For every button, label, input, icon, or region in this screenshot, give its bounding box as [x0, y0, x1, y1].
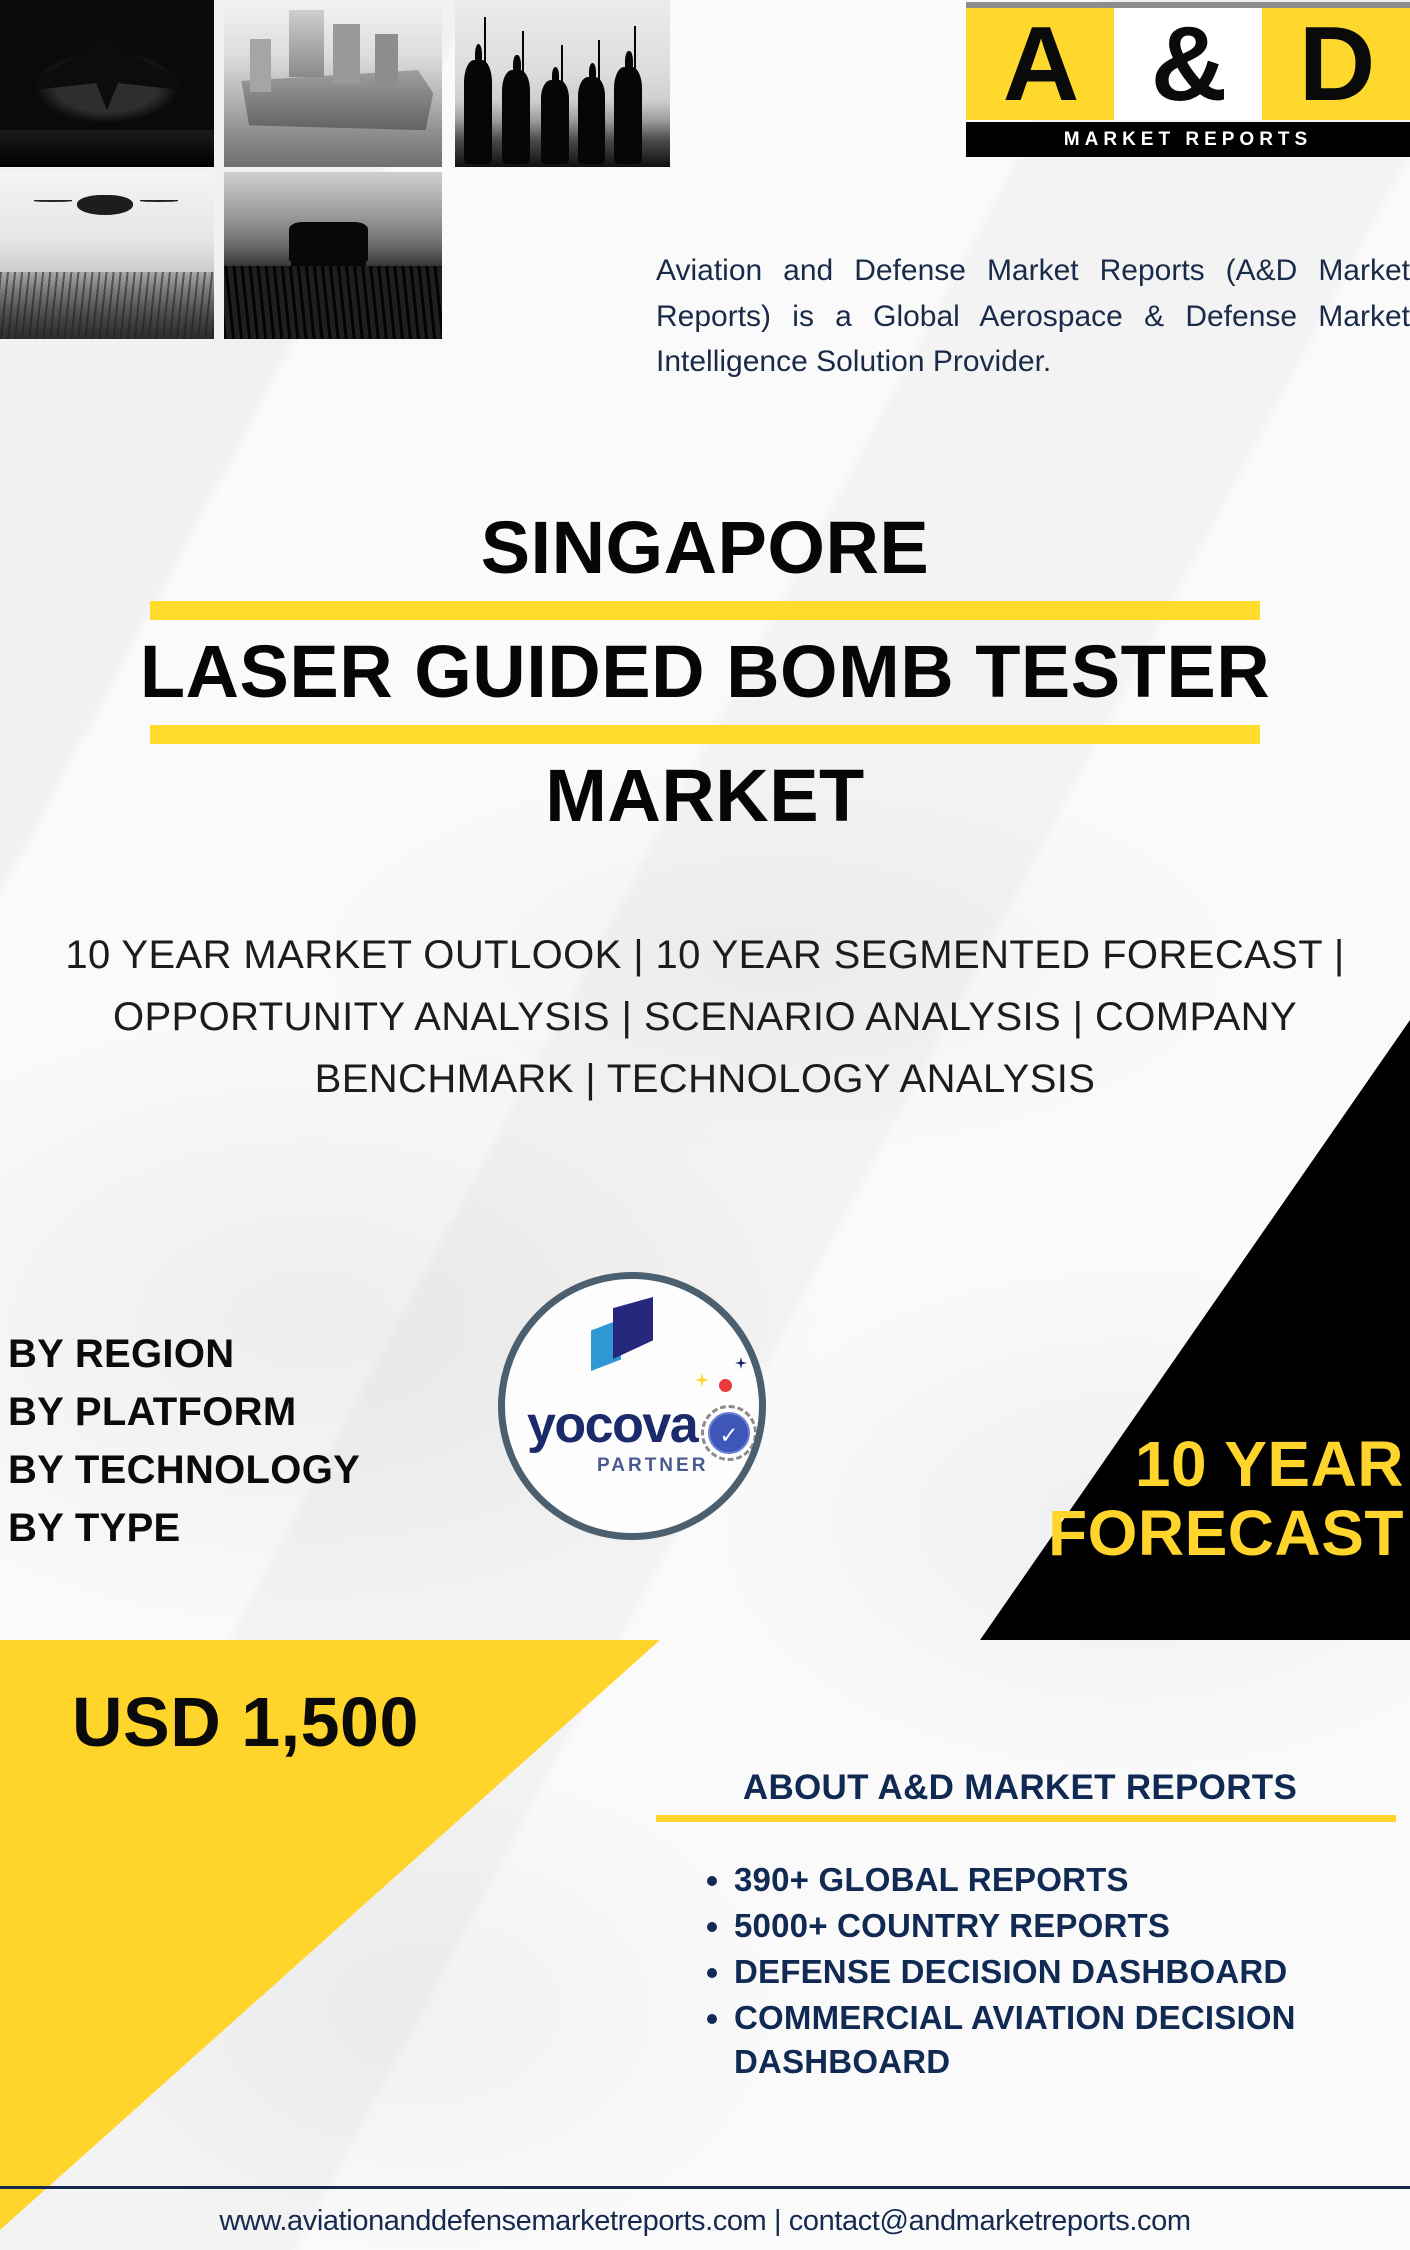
- yocova-partner-badge: yocova PARTNER ✓: [498, 1272, 766, 1540]
- yocova-wordmark: yocova: [527, 1399, 703, 1451]
- title-rule-top: [150, 601, 1260, 620]
- verified-check-icon: ✓: [701, 1405, 757, 1461]
- helicopter-photo: [0, 172, 214, 339]
- about-heading-underline: [656, 1815, 1396, 1822]
- footer-divider: [0, 2186, 1410, 2189]
- price-value: USD 1,500: [72, 1682, 419, 1762]
- title-block: SINGAPORE LASER GUIDED BOMB TESTER MARKE…: [0, 510, 1410, 835]
- armored-vehicle-photo: [224, 172, 442, 339]
- list-item: DEFENSE DECISION DASHBOARD: [734, 1950, 1340, 1994]
- footer-contact: www.aviationanddefensemarketreports.com …: [0, 2192, 1410, 2250]
- soldiers-silhouette-photo: [455, 0, 670, 167]
- subtitle-text: 10 YEAR MARKET OUTLOOK | 10 YEAR SEGMENT…: [40, 924, 1370, 1110]
- title-suffix: MARKET: [0, 758, 1410, 835]
- about-heading: ABOUT A&D MARKET REPORTS: [640, 1768, 1400, 1808]
- title-country: SINGAPORE: [0, 510, 1410, 587]
- verified-check-glyph: ✓: [708, 1412, 750, 1454]
- fighter-jet-photo: [0, 0, 214, 167]
- segment-item-platform: BY PLATFORM: [8, 1383, 528, 1441]
- yocova-partner-label: PARTNER: [597, 1455, 708, 1477]
- logo-letter-d: D: [1262, 8, 1410, 120]
- forecast-badge: 10 YEAR FORECAST: [984, 1430, 1404, 1568]
- logo-letter-ampersand: &: [1114, 8, 1262, 120]
- logo-tagline-bar: MARKET REPORTS: [966, 122, 1410, 157]
- logo-letter-blocks: A & D: [966, 8, 1410, 120]
- aircraft-carrier-photo: [224, 0, 442, 167]
- title-rule-bottom: [150, 725, 1260, 744]
- list-item: COMMERCIAL AVIATION DECISION DASHBOARD: [734, 1996, 1340, 2084]
- segment-item-region: BY REGION: [8, 1325, 528, 1383]
- sparkle-yellow-icon: [695, 1373, 709, 1387]
- forecast-line-1: 10 YEAR: [984, 1430, 1404, 1499]
- segment-list: BY REGION BY PLATFORM BY TECHNOLOGY BY T…: [8, 1325, 528, 1557]
- logo-tagline: MARKET REPORTS: [1064, 129, 1312, 151]
- title-main: LASER GUIDED BOMB TESTER: [0, 634, 1410, 711]
- list-item: 5000+ COUNTRY REPORTS: [734, 1904, 1340, 1948]
- list-item: 390+ GLOBAL REPORTS: [734, 1858, 1340, 1902]
- sparkle-red-dot-icon: [719, 1379, 732, 1392]
- about-bullet-list: 390+ GLOBAL REPORTS 5000+ COUNTRY REPORT…: [700, 1858, 1340, 2085]
- ad-logo: A & D MARKET REPORTS: [966, 2, 1410, 157]
- segment-item-technology: BY TECHNOLOGY: [8, 1441, 528, 1499]
- intro-paragraph: Aviation and Defense Market Reports (A&D…: [656, 248, 1410, 385]
- yocova-flag-icon: [591, 1297, 663, 1369]
- sparkle-navy-icon: [735, 1357, 747, 1369]
- logo-letter-a: A: [966, 8, 1114, 120]
- forecast-line-2: FORECAST: [984, 1499, 1404, 1568]
- segment-item-type: BY TYPE: [8, 1499, 528, 1557]
- marketing-poster: A & D MARKET REPORTS Aviation and Defens…: [0, 0, 1410, 2250]
